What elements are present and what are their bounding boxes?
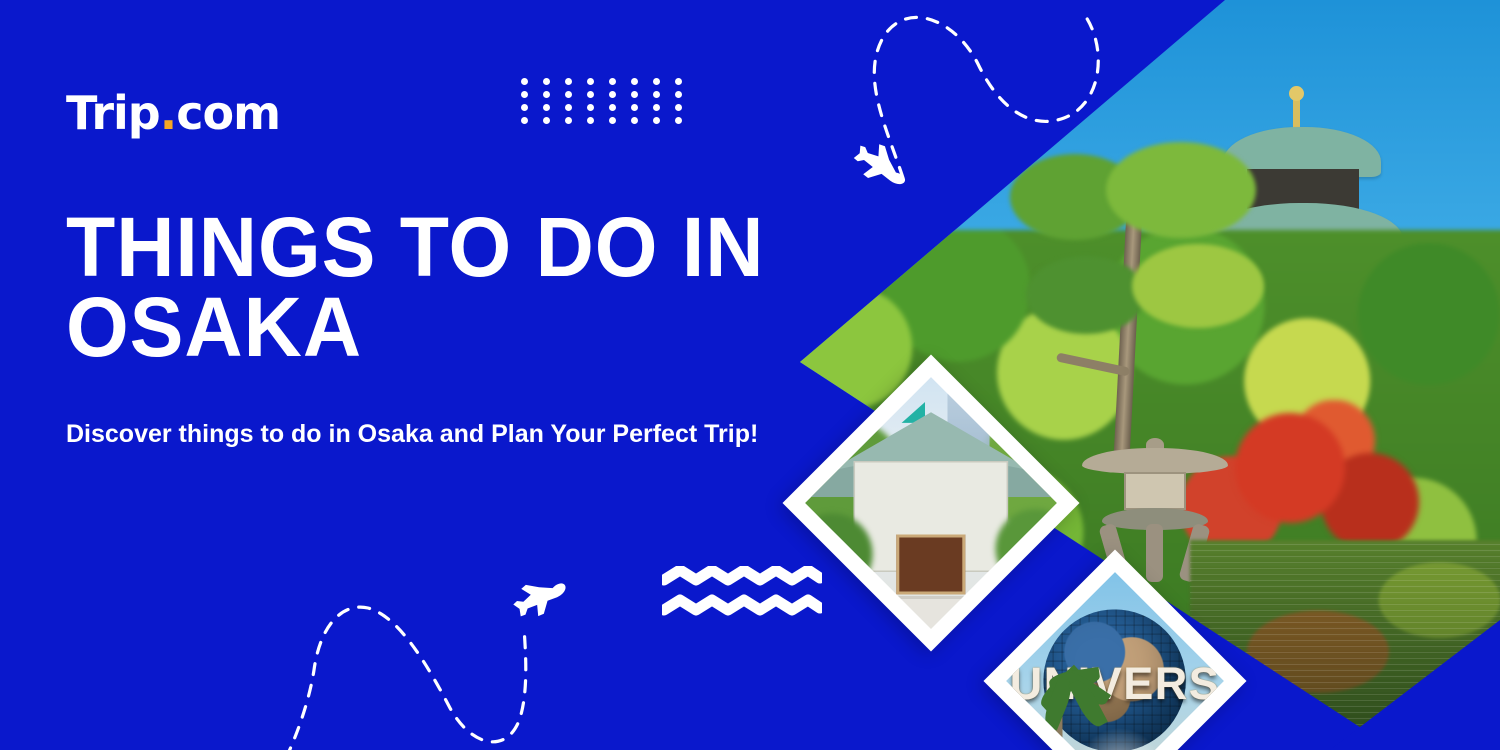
headline-line-2: OSAKA bbox=[66, 280, 362, 374]
logo-accent-dot: . bbox=[160, 86, 176, 140]
grid-dot bbox=[565, 78, 572, 85]
grid-dot bbox=[565, 91, 572, 98]
promotional-banner: UNIVERS Trip.com THINGS TO DO IN OSAKA D… bbox=[0, 0, 1500, 750]
grid-dot bbox=[521, 78, 528, 85]
grid-dot bbox=[543, 104, 550, 111]
grid-dot bbox=[521, 117, 528, 124]
wave-lines-decoration bbox=[662, 566, 822, 627]
grid-dot bbox=[675, 78, 682, 85]
grid-dot bbox=[675, 91, 682, 98]
logo-text-com: com bbox=[176, 86, 280, 140]
airplane-icon bbox=[508, 578, 572, 625]
grid-dot bbox=[653, 117, 660, 124]
grid-dot bbox=[521, 104, 528, 111]
airplane-icon bbox=[849, 136, 915, 194]
grid-dot bbox=[587, 78, 594, 85]
page-title: THINGS TO DO IN OSAKA bbox=[66, 208, 796, 368]
flight-path-top bbox=[846, 6, 1106, 201]
grid-dot bbox=[653, 104, 660, 111]
grid-dot bbox=[543, 91, 550, 98]
dot-grid-decoration bbox=[521, 78, 697, 130]
grid-dot bbox=[609, 117, 616, 124]
grid-dot bbox=[631, 91, 638, 98]
grid-dot bbox=[565, 104, 572, 111]
grid-dot bbox=[587, 117, 594, 124]
grid-dot bbox=[653, 78, 660, 85]
grid-dot bbox=[543, 78, 550, 85]
grid-dot bbox=[675, 104, 682, 111]
logo-text-trip: Trip bbox=[66, 86, 160, 140]
grid-dot bbox=[587, 104, 594, 111]
grid-dot bbox=[587, 91, 594, 98]
grid-dot bbox=[609, 78, 616, 85]
grid-dot bbox=[609, 91, 616, 98]
grid-dot bbox=[609, 104, 616, 111]
grid-dot bbox=[631, 78, 638, 85]
grid-dot bbox=[675, 117, 682, 124]
trip-com-logo[interactable]: Trip.com bbox=[66, 86, 280, 140]
flight-path-bottom bbox=[286, 578, 586, 750]
grid-dot bbox=[631, 104, 638, 111]
grid-dot bbox=[631, 117, 638, 124]
subheadline: Discover things to do in Osaka and Plan … bbox=[66, 418, 786, 452]
grid-dot bbox=[565, 117, 572, 124]
grid-dot bbox=[543, 117, 550, 124]
grid-dot bbox=[521, 91, 528, 98]
grid-dot bbox=[653, 91, 660, 98]
